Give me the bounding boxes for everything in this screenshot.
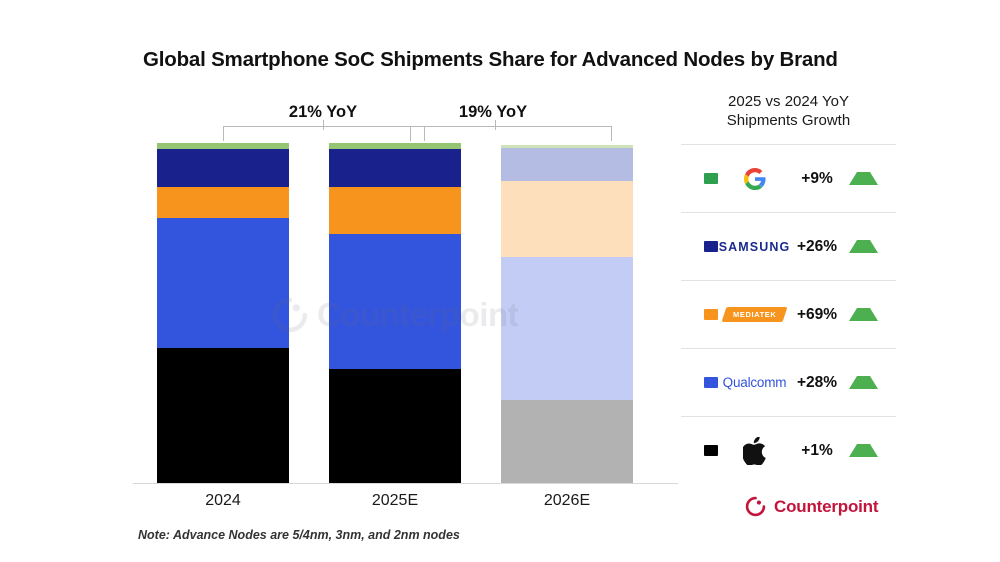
legend-brand-apple	[718, 417, 791, 484]
yoy-bracket-2024-2025	[223, 126, 425, 141]
legend-rows: +9% SAMSUNG +26% MEDIATEK +69%	[681, 144, 896, 484]
bar-segment-qualcomm	[501, 257, 633, 400]
chart-note: Note: Advance Nodes are 5/4nm, 3nm, and …	[138, 528, 460, 542]
bar-segment-apple	[329, 369, 461, 483]
bar-segment-apple	[157, 348, 289, 483]
trend-up-icon	[849, 308, 878, 321]
legend-brand-qualcomm: Qualcomm	[718, 349, 791, 416]
yoy-label-2025-2026: 19% YoY	[423, 103, 563, 122]
legend-row-samsung[interactable]: SAMSUNG +26%	[681, 212, 896, 280]
legend-brand-samsung: SAMSUNG	[718, 213, 791, 280]
trend-up-icon	[849, 240, 878, 253]
x-tick-2026e: 2026E	[487, 492, 647, 510]
legend-growth-google: +9%	[791, 170, 843, 188]
apple-logo-icon	[743, 437, 766, 465]
legend-panel: 2025 vs 2024 YoY Shipments Growth +9%	[681, 92, 896, 484]
legend-swatch-google	[704, 173, 718, 184]
trend-up-icon	[849, 376, 878, 389]
bar-2024[interactable]	[157, 143, 289, 483]
bar-segment-mediatek	[501, 181, 633, 257]
counterpoint-footer-text: Counterpoint	[774, 497, 878, 517]
bar-segment-samsung	[501, 148, 633, 181]
bar-2025e[interactable]	[329, 143, 461, 483]
legend-swatch-mediatek	[704, 309, 718, 320]
counterpoint-footer-logo: Counterpoint	[745, 496, 878, 517]
legend-row-google[interactable]: +9%	[681, 144, 896, 212]
samsung-wordmark: SAMSUNG	[719, 240, 791, 254]
bar-segment-mediatek	[157, 187, 289, 218]
legend-growth-apple: +1%	[791, 442, 843, 460]
legend-row-mediatek[interactable]: MEDIATEK +69%	[681, 280, 896, 348]
trend-up-icon	[849, 172, 878, 185]
legend-row-qualcomm[interactable]: Qualcomm +28%	[681, 348, 896, 416]
legend-swatch-qualcomm	[704, 377, 718, 388]
x-tick-2025e: 2025E	[315, 492, 475, 510]
chart-title: Global Smartphone SoC Shipments Share fo…	[143, 48, 883, 72]
legend-growth-qualcomm: +28%	[791, 374, 843, 392]
counterpoint-logo-icon	[745, 496, 766, 517]
legend-row-apple[interactable]: +1%	[681, 416, 896, 484]
bar-segment-samsung	[157, 149, 289, 187]
legend-brand-mediatek: MEDIATEK	[718, 281, 791, 348]
bar-segment-mediatek	[329, 187, 461, 234]
legend-heading: 2025 vs 2024 YoY Shipments Growth	[681, 92, 896, 130]
legend-heading-line1: 2025 vs 2024 YoY	[681, 92, 896, 111]
x-axis-line	[133, 483, 678, 484]
legend-swatch-samsung	[704, 241, 718, 252]
legend-growth-mediatek: +69%	[791, 306, 843, 324]
legend-heading-line2: Shipments Growth	[681, 111, 896, 130]
bar-segment-qualcomm	[329, 234, 461, 369]
legend-swatch-apple	[704, 445, 718, 456]
bar-segment-samsung	[329, 149, 461, 187]
bar-segment-qualcomm	[157, 218, 289, 348]
chart-canvas: Global Smartphone SoC Shipments Share fo…	[0, 0, 1000, 562]
legend-growth-samsung: +26%	[791, 238, 843, 256]
google-logo-icon	[743, 167, 767, 191]
x-tick-2024: 2024	[143, 492, 303, 510]
yoy-bracket-2025-2026	[410, 126, 612, 141]
qualcomm-wordmark: Qualcomm	[723, 375, 787, 390]
bar-segment-apple	[501, 400, 633, 483]
bar-2026e[interactable]	[501, 145, 633, 483]
trend-up-icon	[849, 444, 878, 457]
yoy-label-2024-2025: 21% YoY	[253, 103, 393, 122]
legend-brand-google	[718, 145, 791, 212]
mediatek-wordmark: MEDIATEK	[721, 307, 787, 322]
